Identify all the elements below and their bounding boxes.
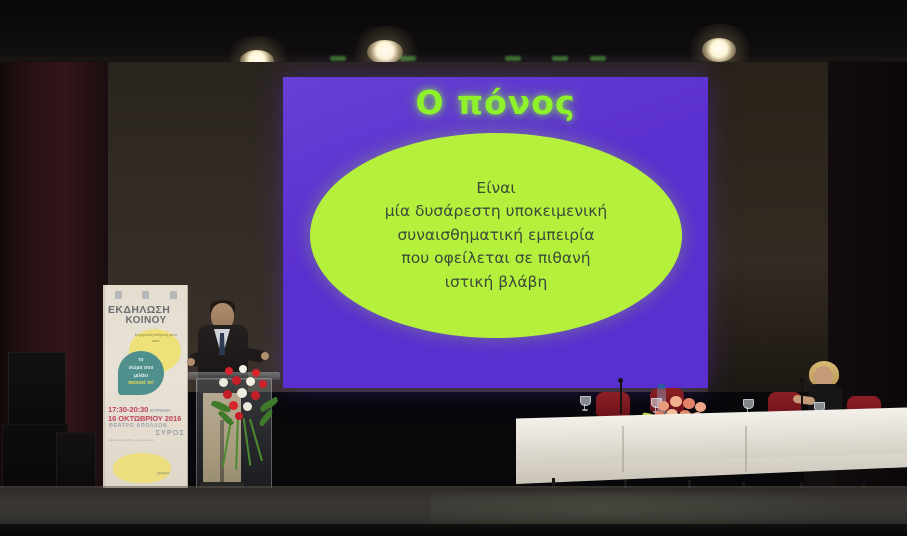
green-indicator-light-icon: [505, 56, 521, 61]
bubble-line-4: ακουσέ το!: [128, 380, 154, 386]
banner-heading-line2: ΚΟΙΝΟΥ: [108, 315, 184, 326]
tablecloth-seam: [745, 426, 747, 472]
stage-apron-lip: [0, 524, 907, 536]
banner-lower-blob: [113, 453, 171, 483]
banner-time-value: 17:30-20:30: [108, 405, 148, 414]
slide-content-ellipse: Είναι μία δυσάρεστη υποκειμενική συναισθ…: [310, 133, 682, 338]
bubble-line-1: το: [138, 357, 143, 363]
theatre-stage-photo: Ο πόνος Είναι μία δυσάρεστη υποκειμενική…: [0, 0, 907, 536]
slide-body-line: ιστική βλάβη: [445, 271, 548, 295]
slide-body-line: μία δυσάρεστη υποκειμενική: [385, 200, 608, 224]
microphone-stand: [620, 382, 622, 414]
banner-date: 16 ΟΚΤΩΒΡΙΟΥ 2016: [108, 414, 186, 423]
green-indicator-light-icon: [330, 56, 346, 61]
sponsor-logo-icon: [142, 291, 149, 299]
slide-body-line: που οφείλεται σε πιθανή: [401, 247, 590, 271]
banner-sponsor-logos: [105, 289, 187, 301]
bubble-line-2: σώμα σου: [129, 365, 154, 371]
banner-city: ΣΥΡΟΣ: [109, 428, 185, 437]
banner-bubble-text: το σώμα σου μιλάει ακουσέ το!: [120, 357, 162, 388]
sponsor-logo-icon: [170, 291, 177, 299]
stage-spotlight-icon: [367, 40, 403, 64]
slide-heading: Ο πόνος: [283, 83, 708, 122]
slide-body-line: Είναι: [476, 177, 515, 201]
event-rollup-banner: ΕΚΔΗΛΩΣΗ ΚΟΙΝΟΥ Ενημερωτική εκδήλωση για…: [103, 285, 188, 490]
banner-footer: χορηγοί: [157, 471, 185, 475]
slide-body-line: συναισθηματική εμπειρία: [397, 224, 594, 248]
green-indicator-light-icon: [590, 56, 606, 61]
water-glass: [580, 396, 589, 411]
sponsor-logo-icon: [115, 291, 122, 299]
banner-subtitle: Είσοδος Ελεύθερη · Διοργάνωση: [109, 438, 185, 442]
banner-day: ΚΥΡΙΑΚΗ: [150, 408, 170, 413]
pa-speaker-cabinet: [8, 352, 66, 426]
tablecloth-seam: [622, 426, 624, 472]
bottle-cap: [658, 384, 665, 389]
presenter-left-hand: [187, 358, 195, 366]
podium-flower-bouquet: [215, 365, 275, 427]
panel-chair: [596, 392, 630, 416]
green-indicator-light-icon: [400, 56, 416, 61]
microphone-icon: [799, 378, 804, 383]
projection-screen: Ο πόνος Είναι μία δυσάρεστη υποκειμενική…: [283, 77, 708, 388]
banner-time: 17:30-20:30 ΚΥΡΙΑΚΗ: [108, 405, 186, 414]
stage-spotlight-icon: [702, 38, 736, 62]
bubble-line-3: μιλάει: [134, 373, 148, 379]
green-indicator-light-icon: [552, 56, 568, 61]
banner-blob-text: Ενημερωτική εκδήλωση για το κοινό: [133, 333, 179, 345]
presenter-right-hand: [261, 352, 269, 360]
microphone-stand: [801, 382, 803, 412]
microphone-icon: [618, 378, 623, 383]
